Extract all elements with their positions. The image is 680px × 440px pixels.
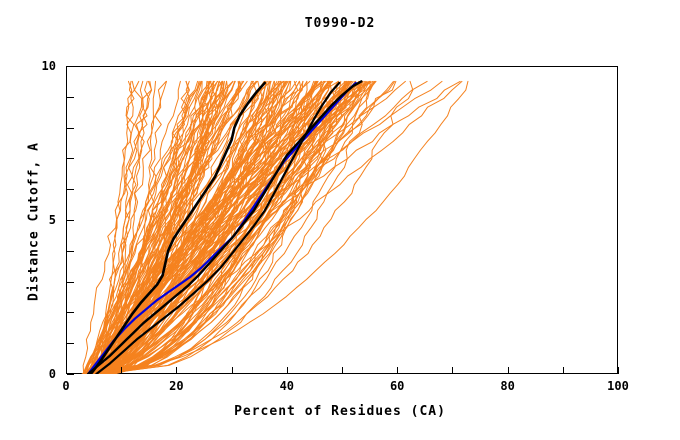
x-tick bbox=[342, 367, 343, 374]
y-tick bbox=[67, 251, 74, 252]
y-tick bbox=[67, 158, 74, 159]
y-tick-label: 0 bbox=[28, 367, 56, 381]
y-axis-title: Distance Cutoff, A bbox=[27, 102, 42, 342]
x-tick bbox=[563, 367, 564, 374]
y-tick bbox=[67, 128, 74, 129]
x-tick-label: 80 bbox=[478, 379, 538, 393]
y-tick bbox=[67, 343, 74, 344]
x-tick bbox=[121, 367, 122, 374]
figure-canvas: T0990-D2 0204060801000510 Percent of Res… bbox=[0, 0, 680, 440]
x-tick bbox=[176, 367, 177, 374]
x-tick-label: 100 bbox=[588, 379, 648, 393]
y-tick bbox=[67, 312, 74, 313]
x-tick bbox=[232, 367, 233, 374]
x-axis-title: Percent of Residues (CA) bbox=[0, 404, 680, 419]
y-tick bbox=[67, 97, 74, 98]
x-tick bbox=[397, 367, 398, 374]
page-title: T0990-D2 bbox=[0, 16, 680, 31]
y-tick bbox=[67, 282, 74, 283]
x-tick-label: 20 bbox=[146, 379, 206, 393]
x-tick bbox=[287, 367, 288, 374]
y-tick bbox=[67, 66, 74, 67]
y-tick-label: 10 bbox=[28, 59, 56, 73]
x-tick bbox=[508, 367, 509, 374]
x-tick bbox=[618, 367, 619, 374]
prediction-curves-group bbox=[82, 81, 468, 374]
plot-area bbox=[66, 66, 618, 374]
y-tick bbox=[67, 189, 74, 190]
x-tick-label: 40 bbox=[257, 379, 317, 393]
x-tick-label: 60 bbox=[367, 379, 427, 393]
y-tick bbox=[67, 220, 74, 221]
x-tick bbox=[66, 367, 67, 374]
y-tick bbox=[67, 374, 74, 375]
curves-svg bbox=[66, 66, 618, 374]
x-tick bbox=[452, 367, 453, 374]
x-tick-label: 0 bbox=[36, 379, 96, 393]
